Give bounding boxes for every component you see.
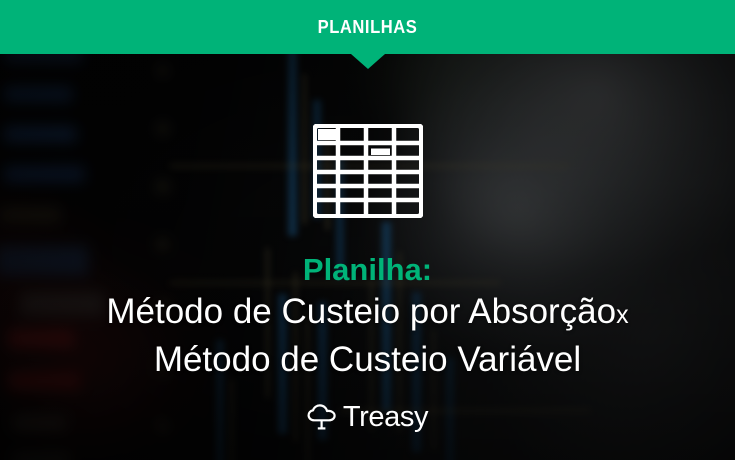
category-header-label: PLANILHAS [29, 17, 705, 37]
category-header-bar: PLANILHAS [0, 0, 735, 54]
promo-banner: PLANILHAS Planilha: Método de Custeio p [0, 0, 735, 460]
treasy-cloud-icon [307, 404, 337, 430]
title-line-1: Método de Custeio por Absorçãox [0, 291, 735, 336]
brand-logo: Treasy [307, 402, 428, 432]
title-line-2: Método de Custeio Variável [0, 339, 735, 380]
spreadsheet-icon [313, 124, 423, 218]
brand-name: Treasy [343, 402, 428, 432]
title-line-1-text: Método de Custeio por Absorção [106, 292, 616, 331]
triangle-down-icon [351, 54, 385, 69]
title-kicker: Planilha: [0, 252, 735, 288]
title-block: Planilha: Método de Custeio por Absorção… [0, 252, 735, 380]
hero-content: Planilha: Método de Custeio por Absorção… [0, 54, 735, 460]
title-line-1-suffix: x [616, 301, 629, 329]
